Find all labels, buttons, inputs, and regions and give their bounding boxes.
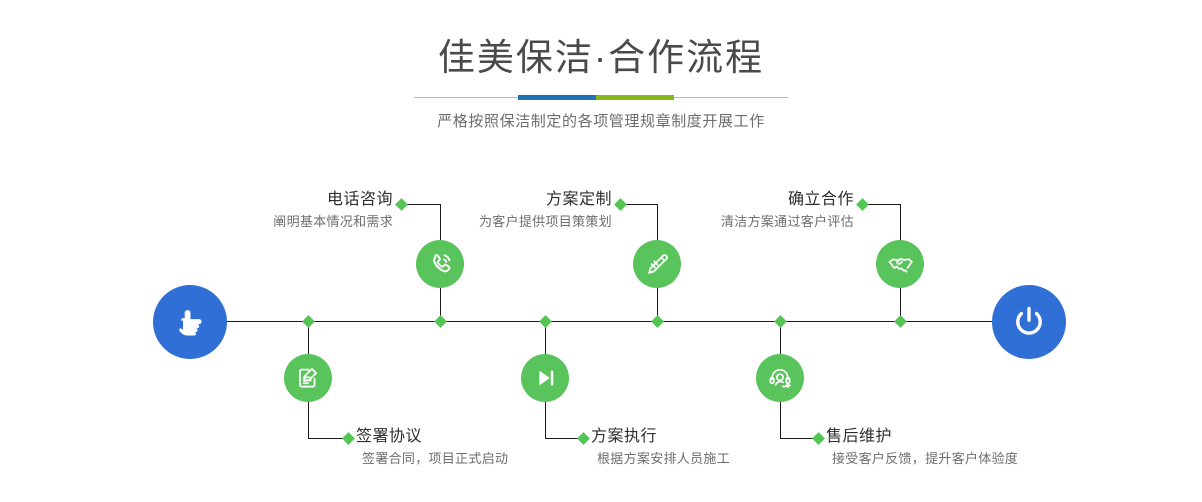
step-title-6: 售后维护 (826, 427, 1018, 447)
step-desc-6: 接受客户反馈，提升客户体验度 (826, 449, 1018, 469)
flow-start-node[interactable] (153, 285, 227, 359)
step-desc-4: 根据方案安排人员施工 (591, 449, 730, 469)
step-label-5: 确立合作 清洁方案通过客户评估 (618, 190, 854, 232)
step-title-5: 确立合作 (618, 190, 854, 210)
timeline-marker-3 (651, 315, 664, 328)
power-button-icon (1008, 301, 1050, 343)
timeline-marker-1 (434, 315, 447, 328)
play-skip-icon (531, 364, 559, 392)
process-flow-timeline: 电话咨询 阐明基本情况和需求 签署协议 签署合同，项目正式启动 (0, 0, 1202, 502)
step-icon-3[interactable] (633, 240, 681, 288)
step-label-6: 售后维护 接受客户反馈，提升客户体验度 (826, 427, 1018, 469)
handshake-icon (886, 250, 915, 279)
step-desc-3: 为客户提供项目策策划 (376, 212, 612, 232)
step-label-2: 签署协议 签署合同，项目正式启动 (356, 427, 508, 469)
step-desc-5: 清洁方案通过客户评估 (618, 212, 854, 232)
customer-service-add-icon (766, 364, 794, 392)
timeline-marker-2 (302, 315, 315, 328)
step-title-3: 方案定制 (376, 190, 612, 210)
timeline-marker-6 (774, 315, 787, 328)
step-title-4: 方案执行 (591, 427, 730, 447)
step-icon-5[interactable] (876, 240, 924, 288)
pointing-hand-icon (170, 302, 210, 342)
label-marker-2 (342, 432, 355, 445)
step-icon-2[interactable] (284, 354, 332, 402)
step-label-1: 电话咨询 阐明基本情况和需求 (157, 190, 393, 232)
label-marker-5 (856, 198, 869, 211)
document-edit-icon (294, 364, 322, 392)
timeline-marker-4 (539, 315, 552, 328)
step-title-2: 签署协议 (356, 427, 508, 447)
flow-end-node[interactable] (992, 285, 1066, 359)
label-marker-4 (577, 432, 590, 445)
step-title-1: 电话咨询 (157, 190, 393, 210)
phone-call-icon (425, 249, 455, 279)
timeline-marker-5 (894, 315, 907, 328)
step-icon-6[interactable] (756, 354, 804, 402)
step-label-3: 方案定制 为客户提供项目策策划 (376, 190, 612, 232)
pencil-design-icon (643, 250, 672, 279)
step-icon-1[interactable] (416, 240, 464, 288)
timeline-axis (160, 321, 1050, 322)
step-desc-1: 阐明基本情况和需求 (157, 212, 393, 232)
step-label-4: 方案执行 根据方案安排人员施工 (591, 427, 730, 469)
step-icon-4[interactable] (521, 354, 569, 402)
step-desc-2: 签署合同，项目正式启动 (356, 449, 508, 469)
label-marker-6 (812, 432, 825, 445)
